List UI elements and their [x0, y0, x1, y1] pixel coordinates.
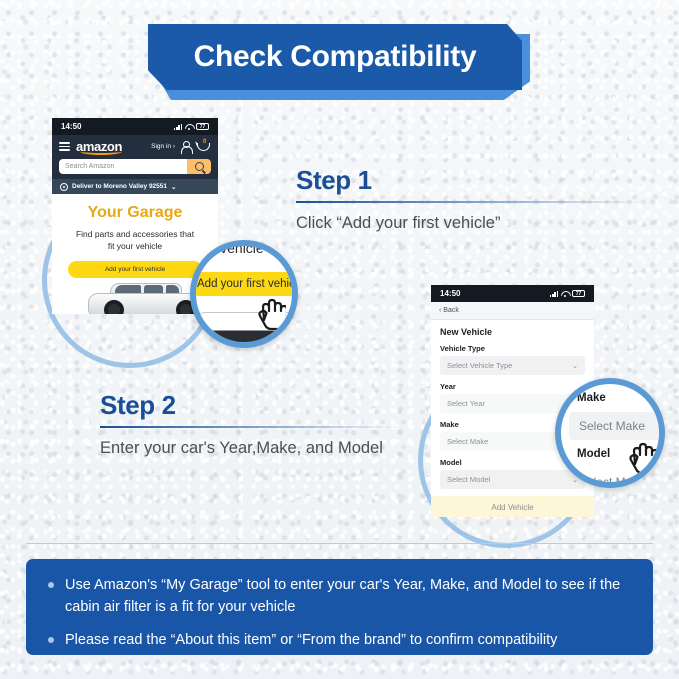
- magnified-label-model: Model: [577, 448, 610, 460]
- search-input[interactable]: Search Amazon: [59, 159, 187, 174]
- search-icon: [195, 162, 204, 171]
- note-text: Please read the “About this item” or “Fr…: [65, 630, 557, 652]
- amazon-nav-right: Sign in › 0: [151, 140, 211, 153]
- step-2-block: Step 2 Enter your car's Year,Make, and M…: [100, 390, 405, 460]
- step-2-heading: Step 2: [100, 390, 405, 421]
- chevron-down-icon: ⌄: [171, 183, 176, 191]
- page-root: Check Compatibility 14:50 77 amazon Sign…: [0, 0, 679, 679]
- step-2-rule: [100, 426, 405, 428]
- bullet-icon: [48, 582, 54, 588]
- phone2-status-bar: 14:50 77: [431, 285, 594, 302]
- cart-basket: [197, 143, 210, 151]
- deliver-to-bar[interactable]: Deliver to Moreno Valley 92551 ⌄: [52, 179, 218, 194]
- magnifier-left: our vehicle Add your first vehicle: [190, 240, 298, 348]
- notes-panel: Use Amazon's “My Garage” tool to enter y…: [26, 559, 653, 655]
- amazon-nav-row: amazon Sign in › 0: [59, 139, 211, 154]
- header-banner: Check Compatibility: [148, 24, 530, 100]
- note-text: Use Amazon's “My Garage” tool to enter y…: [65, 575, 631, 619]
- magnifier-right: Make Select Make Model ⌄ Select M: [555, 378, 665, 488]
- search-button[interactable]: [187, 159, 211, 174]
- cart-icon[interactable]: 0: [196, 140, 211, 153]
- step-1-heading: Step 1: [296, 165, 646, 196]
- wifi-icon: [185, 123, 193, 130]
- hand-pointer-icon: [252, 290, 286, 330]
- add-vehicle-button[interactable]: Add Vehicle: [431, 496, 594, 517]
- person-icon[interactable]: [180, 141, 191, 153]
- label-vehicle-type: Vehicle Type: [440, 344, 585, 353]
- page-title: Check Compatibility: [194, 40, 477, 74]
- phone1-status-bar: 14:50 77: [52, 118, 218, 135]
- garage-title: Your Garage: [62, 204, 208, 222]
- add-first-vehicle-button[interactable]: Add your first vehicle: [68, 261, 202, 278]
- signal-icon: [174, 123, 182, 130]
- location-pin-icon: [60, 183, 68, 191]
- section-divider: [26, 543, 653, 544]
- sign-in-link[interactable]: Sign in ›: [151, 143, 175, 150]
- step-1-body: Click “Add your first vehicle”: [296, 212, 646, 236]
- note-item: Please read the “About this item” or “Fr…: [48, 630, 631, 652]
- select-year-value: Select Year: [447, 399, 485, 408]
- note-item: Use Amazon's “My Garage” tool to enter y…: [48, 575, 631, 619]
- signal-icon: [550, 290, 558, 297]
- search-bar[interactable]: Search Amazon: [59, 159, 211, 174]
- suv-illustration: [62, 282, 208, 314]
- amazon-logo[interactable]: amazon: [76, 139, 122, 154]
- status-time: 14:50: [61, 122, 81, 131]
- status-time: 14:50: [440, 289, 460, 298]
- banner-main-layer: Check Compatibility: [148, 24, 522, 90]
- back-button[interactable]: ‹ Back: [431, 302, 594, 320]
- hand-pointer-icon: [623, 434, 657, 474]
- select-model-value: Select Model: [447, 475, 490, 484]
- step-1-block: Step 1 Click “Add your first vehicle”: [296, 165, 646, 235]
- field-group-vehicle-type: Vehicle Type Select Vehicle Type ⌄: [440, 344, 585, 375]
- select-vehicle-type-value: Select Vehicle Type: [447, 361, 512, 370]
- status-icons: 77: [174, 123, 209, 130]
- form-title: New Vehicle: [440, 327, 585, 337]
- select-make-value: Select Make: [447, 437, 488, 446]
- step-1-rule: [296, 201, 646, 203]
- amazon-nav-bar: amazon Sign in › 0 Search Amazon: [52, 135, 218, 179]
- wifi-icon: [561, 290, 569, 297]
- chevron-down-icon: ⌄: [572, 362, 578, 370]
- battery-icon: 77: [196, 123, 209, 130]
- hamburger-icon[interactable]: [59, 142, 70, 151]
- step-2-body: Enter your car's Year,Make, and Model: [100, 437, 405, 461]
- garage-subtitle: Find parts and accessories that fit your…: [62, 228, 208, 253]
- battery-icon: 77: [572, 290, 585, 297]
- deliver-to-text: Deliver to Moreno Valley 92551: [72, 183, 167, 190]
- bullet-icon: [48, 637, 54, 643]
- select-vehicle-type[interactable]: Select Vehicle Type ⌄: [440, 356, 585, 375]
- status-icons: 77: [550, 290, 585, 297]
- magnified-label-make: Make: [577, 392, 606, 404]
